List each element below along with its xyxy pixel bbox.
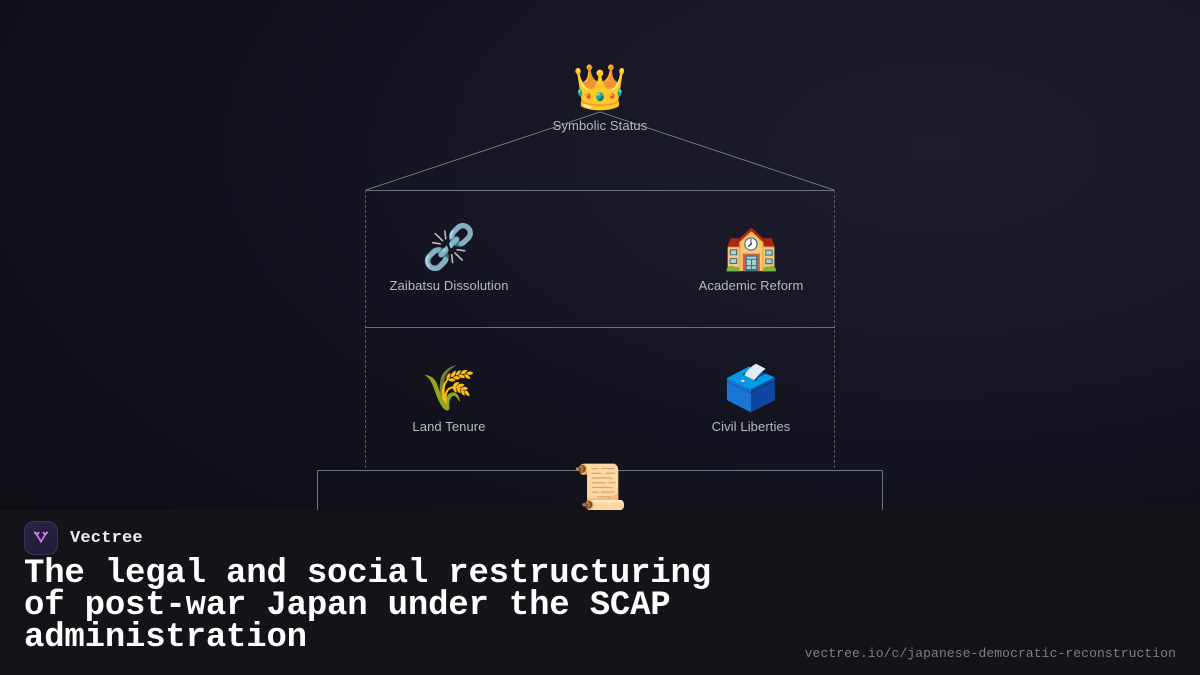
school-icon: 🏫: [676, 222, 826, 274]
headline: The legal and social restructuring of po…: [24, 558, 1024, 654]
node-label-land-tenure: Land Tenure: [374, 419, 524, 435]
scroll-icon: 📜: [525, 462, 675, 514]
footer-band: Vectree The legal and social restructuri…: [0, 510, 1200, 675]
node-label-civil-liberties: Civil Liberties: [676, 419, 826, 435]
brand-name: Vectree: [70, 529, 143, 548]
screenshot-root: 👑 Symbolic Status ⛓️‍💥 Zaibatsu Dissolut…: [0, 0, 1200, 675]
node-label-academic-reform: Academic Reform: [676, 278, 826, 294]
node-civil-liberties[interactable]: 🗳️ Civil Liberties: [676, 363, 826, 435]
ballot-box-icon: 🗳️: [676, 363, 826, 415]
node-zaibatsu-dissolution[interactable]: ⛓️‍💥 Zaibatsu Dissolution: [374, 222, 524, 294]
node-label-symbolic-status: Symbolic Status: [525, 118, 675, 134]
node-land-tenure[interactable]: 🌾 Land Tenure: [374, 363, 524, 435]
share-url[interactable]: vectree.io/c/japanese-democratic-reconst…: [805, 646, 1176, 661]
node-symbolic-status[interactable]: 👑 Symbolic Status: [525, 62, 675, 134]
rice-sheaf-icon: 🌾: [374, 363, 524, 415]
reform-group-row-divider: [365, 327, 835, 328]
node-label-zaibatsu-dissolution: Zaibatsu Dissolution: [374, 278, 524, 294]
crown-icon: 👑: [525, 62, 675, 114]
brand[interactable]: Vectree: [24, 521, 143, 555]
broken-chain-icon: ⛓️‍💥: [374, 222, 524, 274]
vectree-logo-icon: [24, 521, 58, 555]
node-academic-reform[interactable]: 🏫 Academic Reform: [676, 222, 826, 294]
